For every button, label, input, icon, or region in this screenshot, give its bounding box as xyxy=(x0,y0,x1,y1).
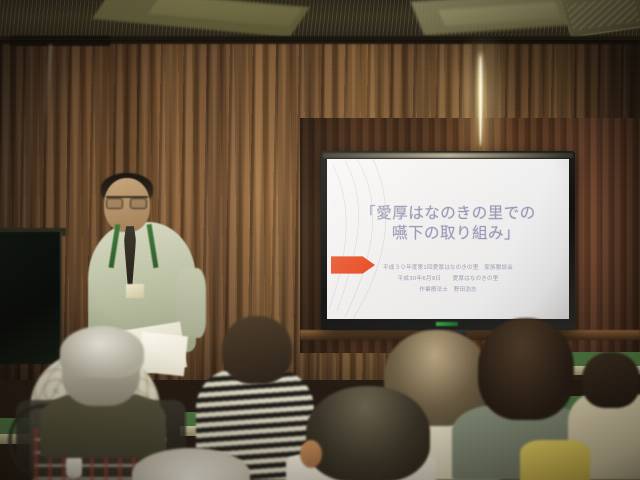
display-status-led xyxy=(436,322,458,326)
display-bezel-highlight xyxy=(323,153,573,158)
glasses-icon xyxy=(106,196,148,208)
white-hair xyxy=(60,326,144,378)
audience-member-foreground-ear xyxy=(300,440,322,468)
paper-cup xyxy=(66,458,82,478)
slide-subtitle-line-2: 平成30年6月9日 愛厚はなのきの里 xyxy=(327,274,569,285)
presentation-slide: 「愛厚はなのきの里での 嚥下の取り組み」 平成３０年度第1回愛厚はなのきの里 家… xyxy=(327,159,569,319)
id-badge xyxy=(126,284,144,298)
blackboard xyxy=(0,232,62,364)
glasses-lens-right xyxy=(130,198,147,209)
audience-member-beige-right-head xyxy=(582,352,640,408)
slide-title-line-1: 「愛厚はなのきの里での xyxy=(327,203,569,223)
light-flare-core xyxy=(479,56,482,146)
photo-scene: 「愛厚はなのきの里での 嚥下の取り組み」 平成３０年度第1回愛厚はなのきの里 家… xyxy=(0,0,640,480)
audience-member-striped-head xyxy=(222,316,292,384)
audience-member-foreground-head xyxy=(306,386,430,480)
slide-title-line-2: 嚥下の取り組み」 xyxy=(327,223,569,243)
slide-subtitle-line-1: 平成３０年度第1回愛厚はなのきの里 家族懇談会 xyxy=(327,263,569,274)
audience-member-right-yellow xyxy=(520,440,590,480)
glasses-lens-left xyxy=(106,198,123,209)
handout-paper-second xyxy=(138,332,188,377)
slide-subtitle-line-3: 作業療法士 野田浩志 xyxy=(327,285,569,296)
audience-member-dark-hair-head xyxy=(478,318,574,420)
slide-title: 「愛厚はなのきの里での 嚥下の取り組み」 xyxy=(327,203,569,244)
slide-subtitle: 平成３０年度第1回愛厚はなのきの里 家族懇談会 平成30年6月9日 愛厚はなのき… xyxy=(327,263,569,296)
